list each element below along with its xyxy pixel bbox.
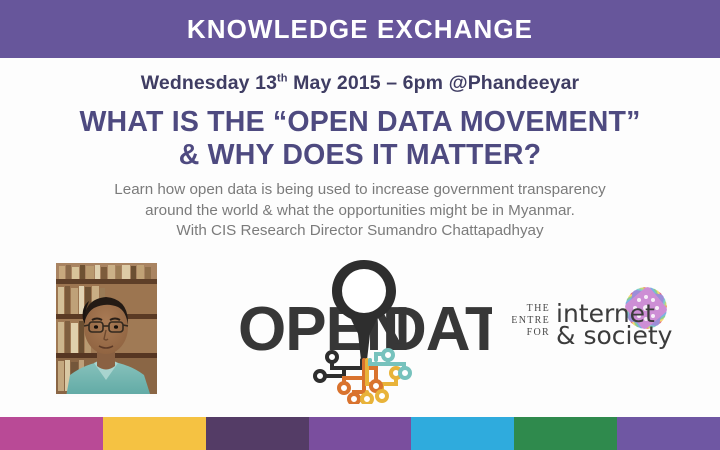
footer-swatch-gold [103, 417, 206, 450]
cis-word-society: & society [556, 321, 673, 350]
cis-logo: THE CENTRE FOR internet & society [512, 278, 692, 360]
footer-swatch-medium-purple [309, 417, 412, 450]
event-description-line-3: With CIS Research Director Sumandro Chat… [0, 221, 720, 242]
event-title-line-1: WHAT IS THE “OPEN DATA MOVEMENT” [0, 106, 720, 139]
footer-swatch-cyan [411, 417, 514, 450]
cis-word-for: FOR [527, 327, 550, 338]
open-data-logo: OPEN DATA [236, 256, 492, 404]
event-date-suffix: May 2015 – 6pm @Phandeeyar [288, 72, 580, 94]
event-title: WHAT IS THE “OPEN DATA MOVEMENT” & WHY D… [0, 106, 720, 172]
footer-swatch-violet [617, 417, 720, 450]
event-description: Learn how open data is being used to inc… [0, 180, 720, 242]
event-date-prefix: Wednesday 13 [141, 72, 277, 94]
cis-word-the: THE [527, 303, 550, 314]
cis-word-centre: CENTRE [512, 315, 550, 326]
event-title-line-2: & WHY DOES IT MATTER? [0, 139, 720, 172]
footer-swatch-dark-purple [206, 417, 309, 450]
event-description-line-2: around the world & what the opportunitie… [0, 201, 720, 222]
page-title: KNOWLEDGE EXCHANGE [187, 14, 533, 45]
footer-swatch-magenta [0, 417, 103, 450]
opendata-word-data: DATA [382, 295, 492, 364]
event-description-line-1: Learn how open data is being used to inc… [0, 180, 720, 201]
footer-swatch-green [514, 417, 617, 450]
event-date-ordinal: th [277, 73, 288, 85]
header-band: KNOWLEDGE EXCHANGE [0, 0, 720, 58]
event-date-line: Wednesday 13th May 2015 – 6pm @Phandeeya… [0, 72, 720, 95]
speaker-photo [56, 263, 157, 397]
footer-color-bar [0, 417, 720, 450]
event-poster: KNOWLEDGE EXCHANGE Wednesday 13th May 20… [0, 0, 720, 450]
